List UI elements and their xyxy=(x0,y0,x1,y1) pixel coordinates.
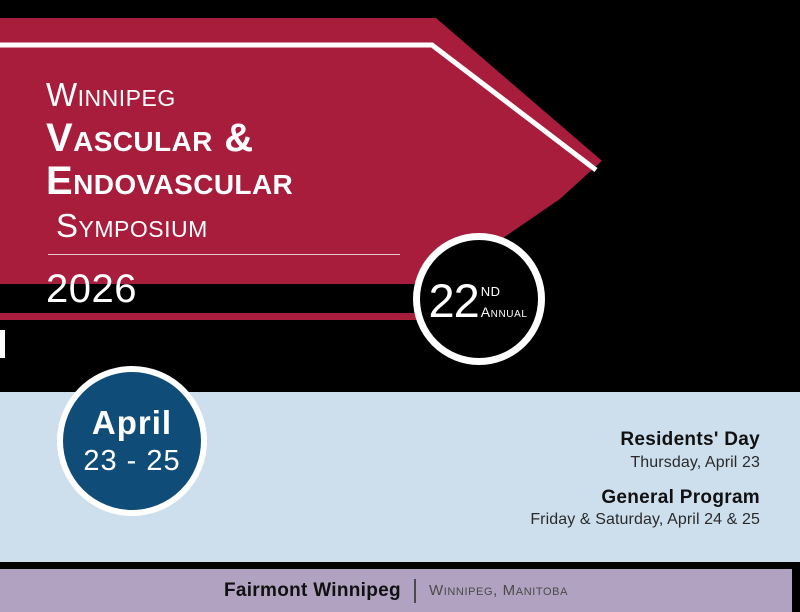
symposium-poster: Winnipeg Vascular & Endovascular Symposi… xyxy=(0,0,800,612)
program-heading-residents-day: Residents' Day xyxy=(530,428,760,452)
title-line-winnipeg: Winnipeg xyxy=(46,78,466,111)
event-date-badge: April 23 - 25 xyxy=(57,366,207,516)
annual-badge-content: 22 nd Annual xyxy=(428,279,527,322)
black-divider-band xyxy=(0,562,800,569)
left-white-tick xyxy=(0,330,5,358)
date-badge-month: April xyxy=(92,406,172,439)
annual-badge-label: Annual xyxy=(481,305,528,319)
annual-badge-ordinal: nd xyxy=(481,281,501,300)
program-group-residents-day: Residents' Day Thursday, April 23 xyxy=(530,428,760,474)
program-group-general-program: General Program Friday & Saturday, April… xyxy=(530,486,760,532)
purple-band-right-edge xyxy=(792,569,800,612)
title-line-symposium: Symposium xyxy=(56,209,466,242)
annual-badge-number: 22 xyxy=(428,279,478,322)
program-subtitle-general-program: Friday & Saturday, April 24 & 25 xyxy=(530,510,760,531)
program-heading-general-program: General Program xyxy=(530,486,760,510)
venue-city: Winnipeg, Manitoba xyxy=(429,582,568,599)
title-line-vascular-endovascular: Vascular & Endovascular xyxy=(46,117,466,203)
program-schedule-block: Residents' Day Thursday, April 23 Genera… xyxy=(530,428,760,531)
annual-badge-suffix-group: nd Annual xyxy=(481,281,528,319)
program-subtitle-residents-day: Thursday, April 23 xyxy=(530,453,760,474)
venue-name: Fairmont Winnipeg xyxy=(224,580,401,602)
poster-title-block: Winnipeg Vascular & Endovascular Symposi… xyxy=(46,78,466,309)
date-badge-days: 23 - 25 xyxy=(83,447,180,476)
venue-separator xyxy=(414,579,416,603)
title-year: 2026 xyxy=(46,269,466,309)
title-divider-rule xyxy=(48,254,400,255)
crimson-accent-line xyxy=(0,313,452,320)
annual-edition-badge: 22 nd Annual xyxy=(413,233,545,365)
venue-bar: Fairmont Winnipeg Winnipeg, Manitoba xyxy=(0,569,792,612)
